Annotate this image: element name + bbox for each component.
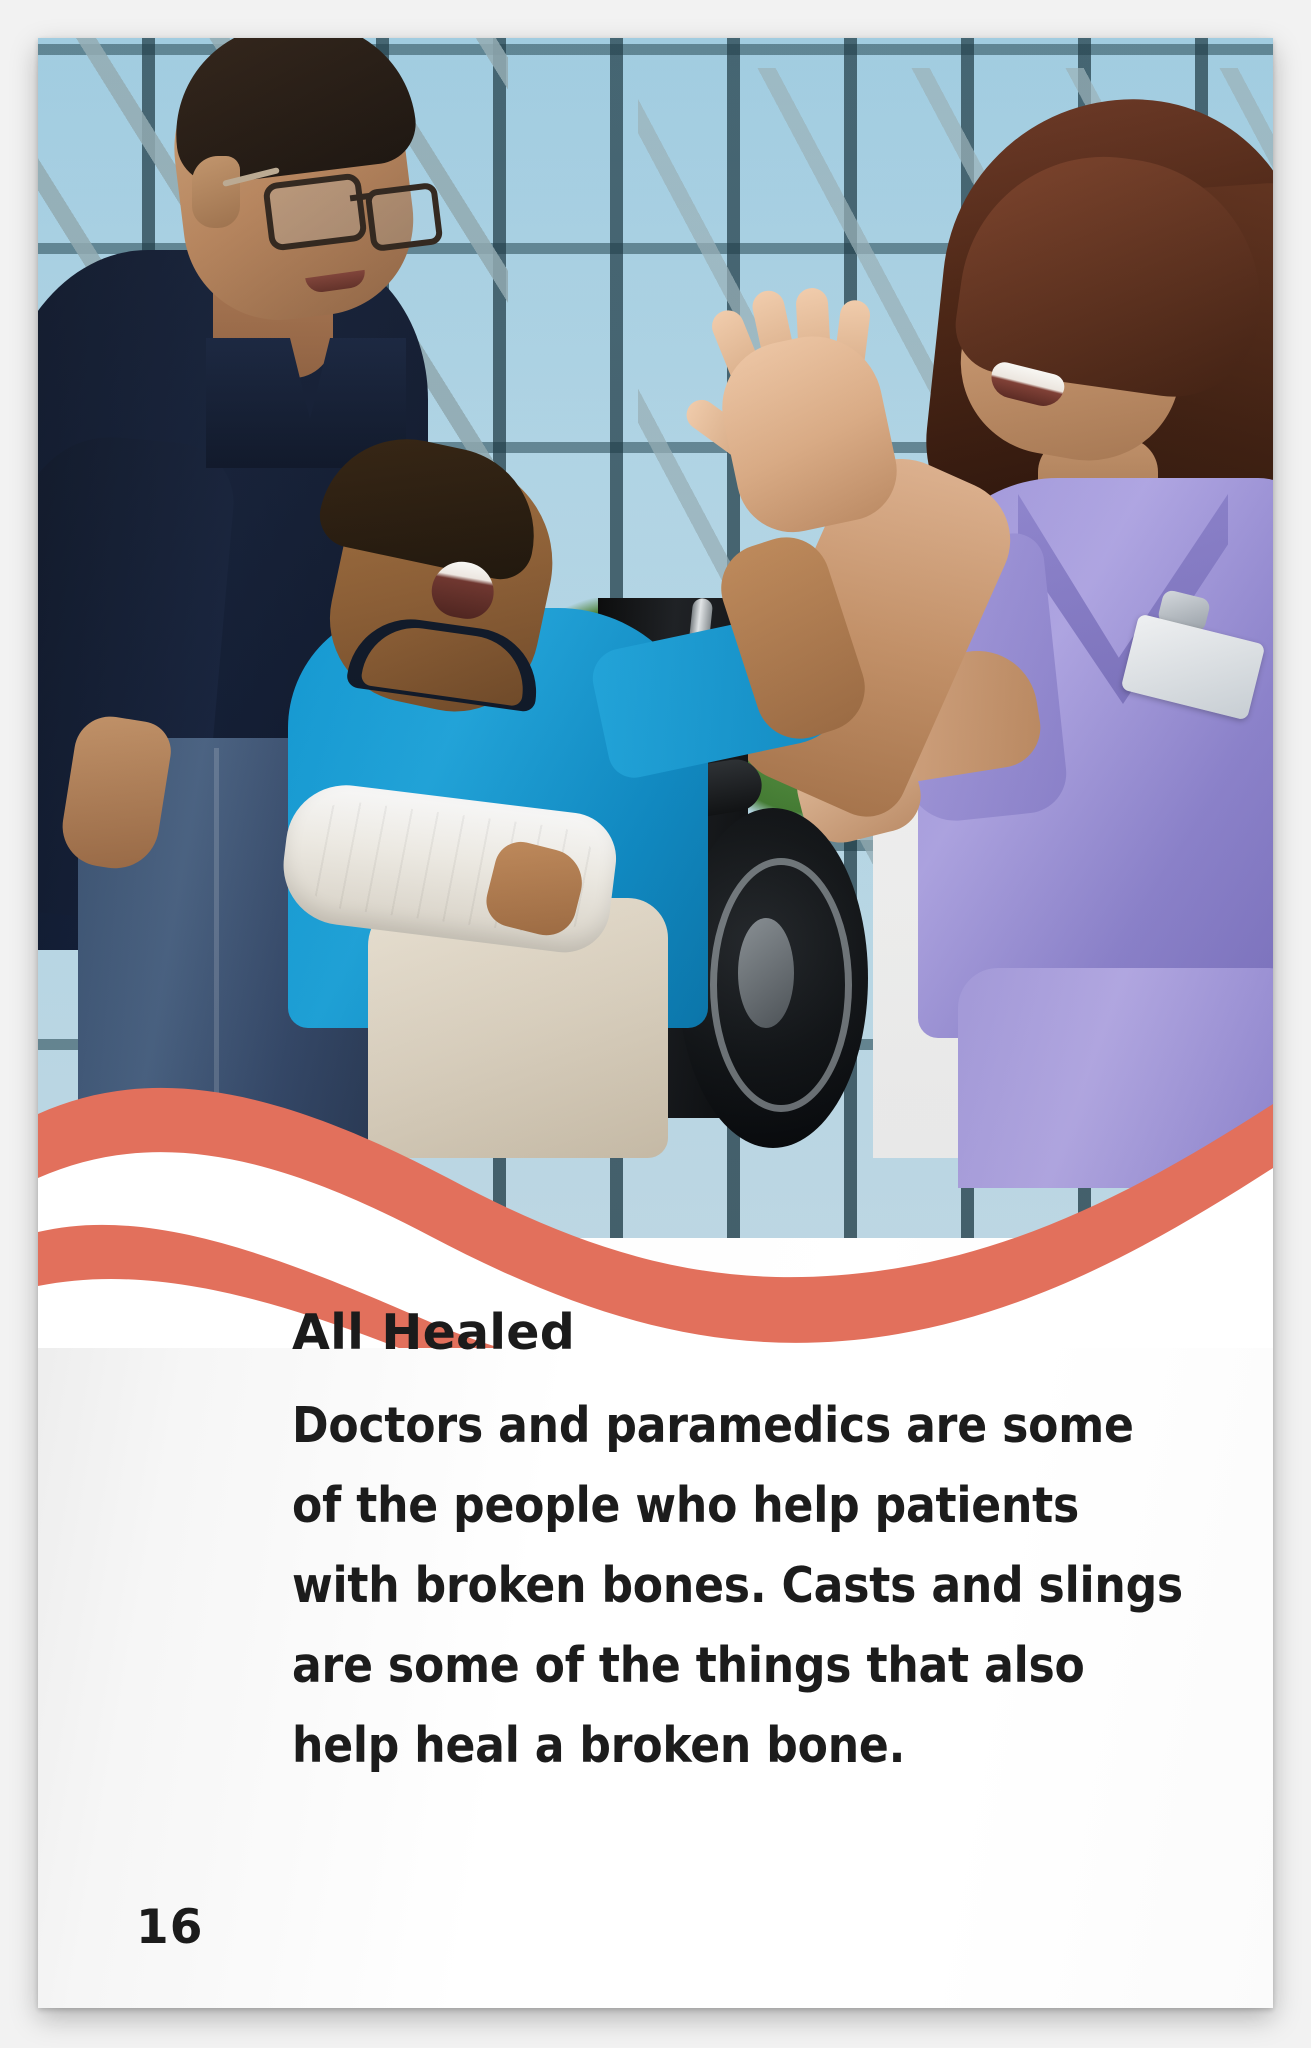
section-title: All Healed — [292, 1306, 1192, 1360]
body-copy: Doctors and paramedics are some of the p… — [292, 1386, 1192, 1786]
body-line: Doctors and paramedics are some — [292, 1386, 1192, 1466]
glasses-lens-left — [262, 172, 368, 251]
book-page: All Healed Doctors and paramedics are so… — [38, 38, 1273, 2008]
text-block: All Healed Doctors and paramedics are so… — [292, 1306, 1192, 1786]
body-line: help heal a broken bone. — [292, 1706, 1192, 1786]
wheelchair-hub — [738, 918, 794, 1028]
man-ear — [192, 156, 240, 228]
body-line: are some of the things that also — [292, 1626, 1192, 1706]
page-number: 16 — [136, 1900, 203, 1955]
body-line: with broken bones. Casts and slings — [292, 1546, 1192, 1626]
orange-wave-divider — [38, 1018, 1273, 1348]
glasses-lens-right — [364, 182, 443, 252]
body-line: of the people who help patients — [292, 1466, 1192, 1546]
